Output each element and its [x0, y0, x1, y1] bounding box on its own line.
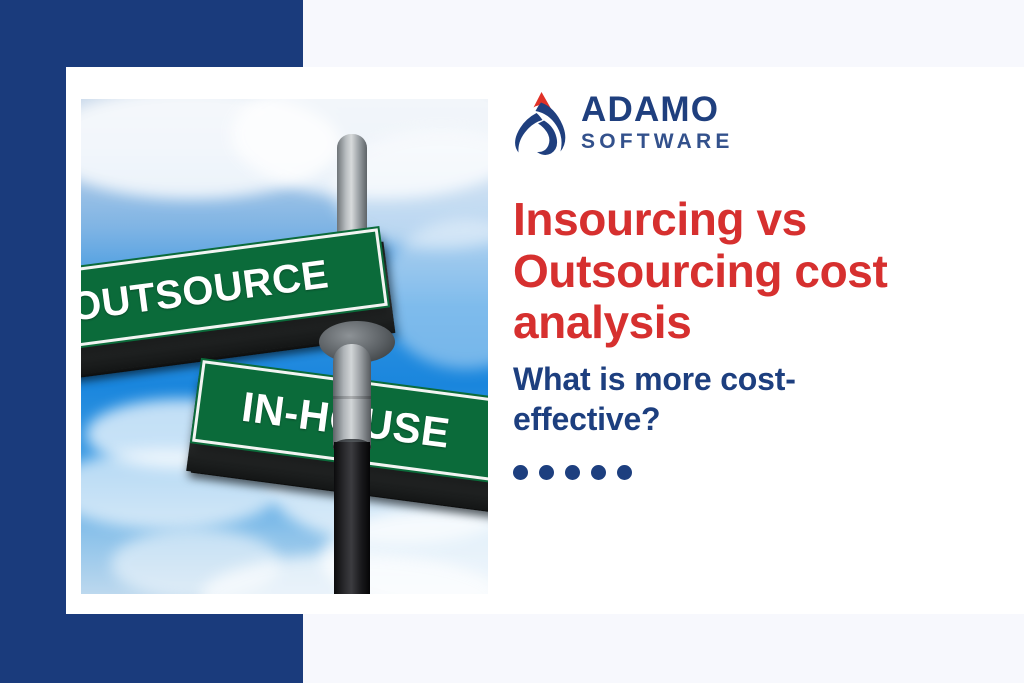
sign-pole-bottom: [334, 442, 370, 594]
hero-photo: OUTSOURCE IN-HOUSE: [81, 99, 488, 594]
text-column: ADAMO SOFTWARE Insourcing vs Outsourcing…: [513, 86, 993, 480]
brand-name: ADAMO: [581, 92, 734, 127]
adamo-swoosh-a-icon: [513, 89, 569, 155]
decorative-dot: [591, 465, 606, 480]
decorative-dot: [565, 465, 580, 480]
decorative-dot: [539, 465, 554, 480]
page-subtitle: What is more cost-effective?: [513, 359, 913, 439]
decorative-dot: [513, 465, 528, 480]
slide-canvas: OUTSOURCE IN-HOUSE ADAMO SOFTWAR: [0, 0, 1024, 683]
brand-subname: SOFTWARE: [581, 131, 734, 152]
decorative-dot: [617, 465, 632, 480]
brand-wordmark: ADAMO SOFTWARE: [581, 92, 734, 152]
sign-pole-middle: [333, 344, 371, 449]
page-title: Insourcing vs Outsourcing cost analysis: [513, 194, 983, 349]
brand-logo: ADAMO SOFTWARE: [513, 86, 993, 158]
decorative-dots: [513, 465, 993, 480]
